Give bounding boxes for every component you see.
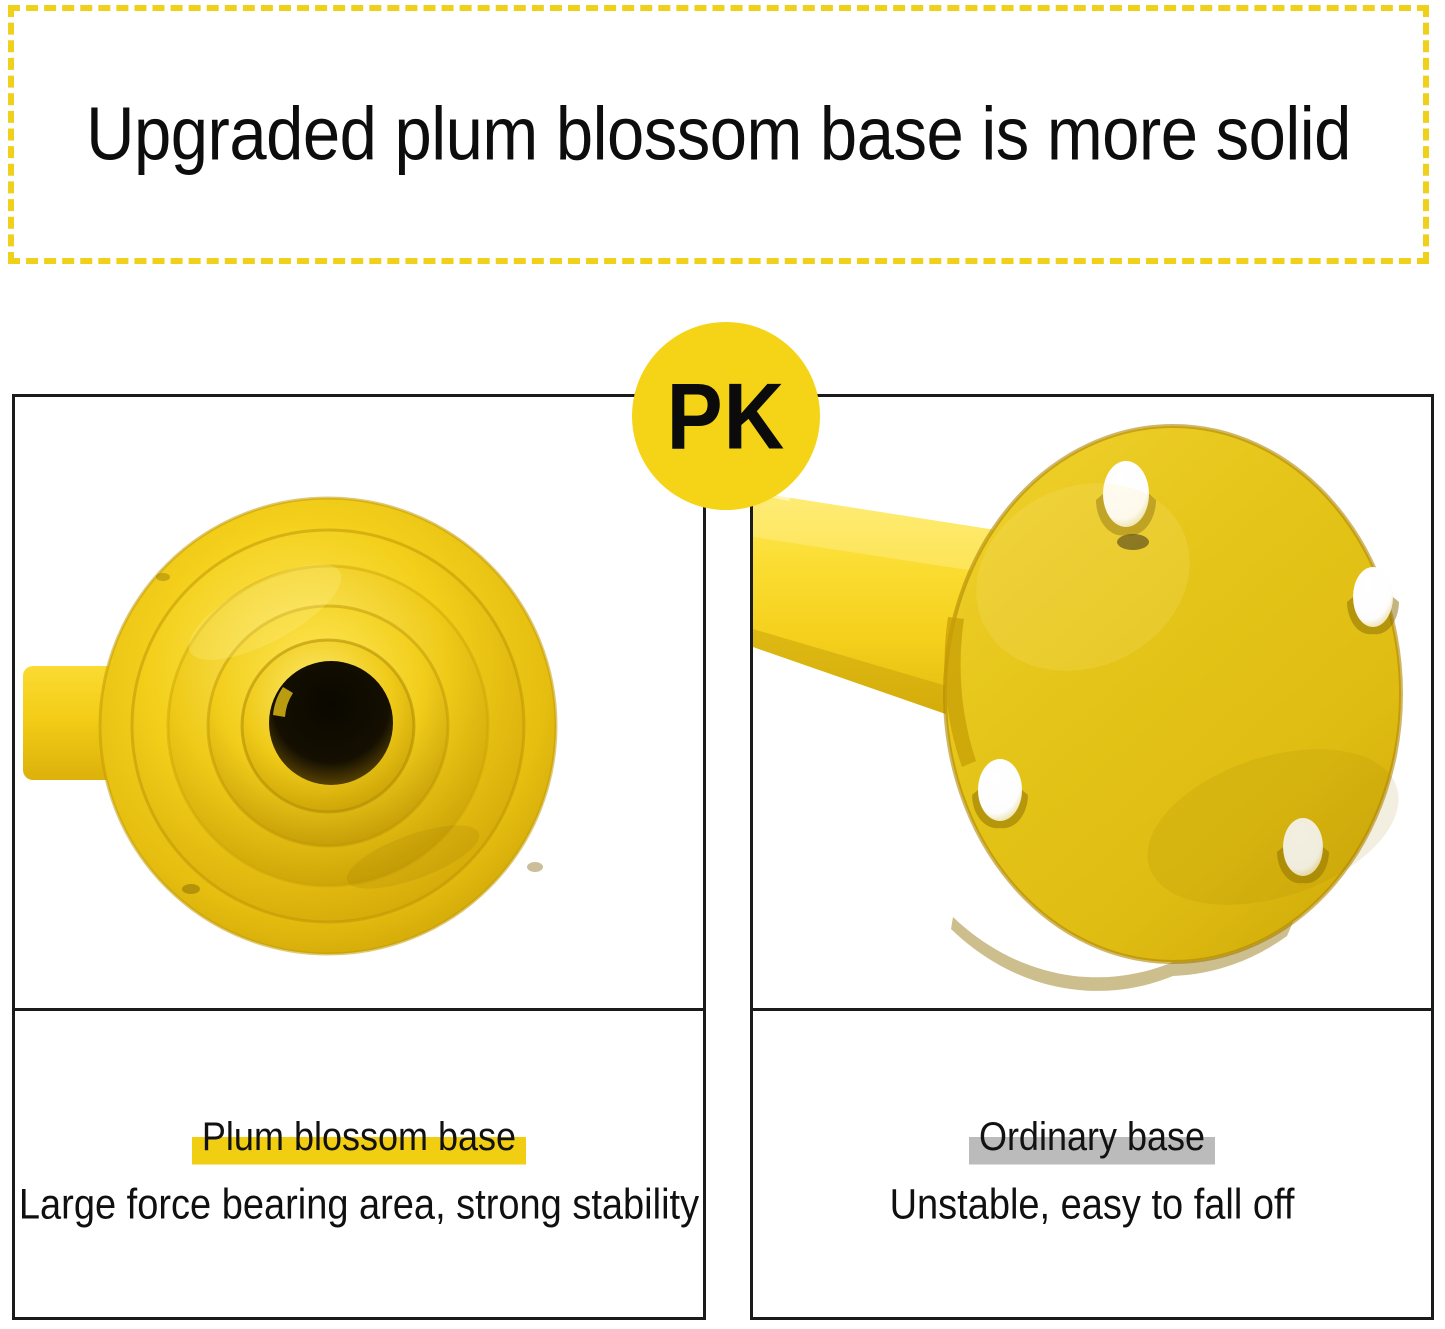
product-name-right-wrap: Ordinary base: [753, 1117, 1431, 1157]
caption-area-left: Plum blossom base Large force bearing ar…: [15, 1008, 703, 1317]
title-banner: Upgraded plum blossom base is more solid: [8, 5, 1429, 264]
page-title: Upgraded plum blossom base is more solid: [14, 0, 1423, 273]
comparison-panel-right: Ordinary base Unstable, easy to fall off: [750, 394, 1434, 1320]
caption-area-right: Ordinary base Unstable, easy to fall off: [753, 1008, 1431, 1317]
product-description-right: Unstable, easy to fall off: [753, 1180, 1431, 1229]
product-name-left: Plum blossom base: [196, 1115, 522, 1159]
plum-blossom-base-illustration: [15, 397, 703, 1008]
product-photo-left: [15, 397, 703, 1008]
product-photo-right: [753, 397, 1431, 1008]
product-name-right: Ordinary base: [973, 1115, 1211, 1159]
pk-badge: PK: [632, 322, 820, 510]
pk-label: PK: [667, 369, 786, 463]
ordinary-base-illustration: [753, 397, 1431, 1008]
product-name-left-wrap: Plum blossom base: [15, 1117, 703, 1157]
comparison-panel-left: Plum blossom base Large force bearing ar…: [12, 394, 706, 1320]
product-description-left: Large force bearing area, strong stabili…: [15, 1180, 703, 1229]
